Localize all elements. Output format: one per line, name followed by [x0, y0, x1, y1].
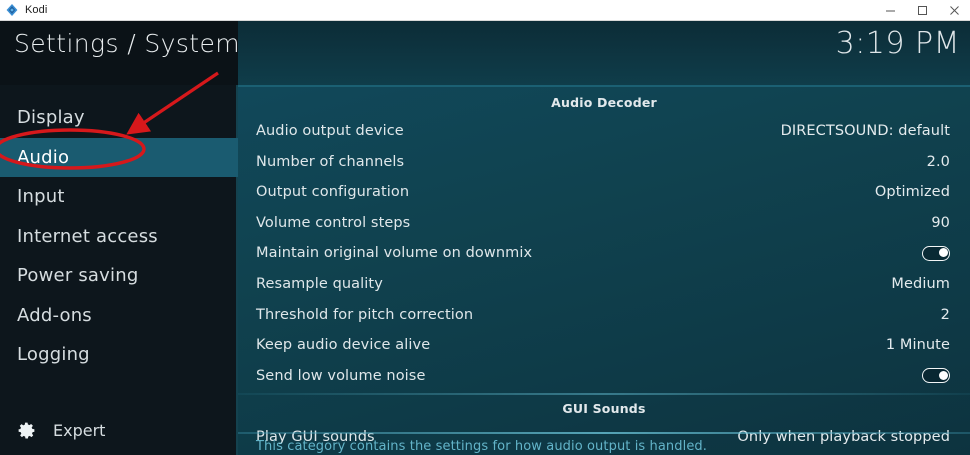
setting-label: Maintain original volume on downmix [256, 245, 532, 261]
clock: 3:19 PM [836, 26, 960, 61]
settings-level-label: Expert [53, 421, 105, 440]
setting-row[interactable]: Threshold for pitch correction2 [238, 302, 970, 328]
setting-label: Send low volume noise [256, 368, 426, 384]
setting-value[interactable]: 1 Minute [886, 337, 950, 353]
setting-row[interactable]: Output configurationOptimized [238, 179, 970, 205]
sidebar-item-label: Display [17, 107, 85, 128]
setting-label: Threshold for pitch correction [256, 307, 473, 323]
setting-value[interactable]: Medium [891, 276, 950, 292]
sidebar-item-display[interactable]: Display [0, 98, 238, 137]
setting-row[interactable]: Keep audio device alive1 Minute [238, 332, 970, 358]
setting-row[interactable]: Maintain original volume on downmix [238, 240, 970, 266]
setting-label: Audio output device [256, 123, 404, 139]
setting-toggle[interactable] [922, 246, 950, 261]
setting-label: Number of channels [256, 154, 404, 170]
section-header: Audio Decoder [238, 91, 970, 113]
sidebar-item-audio[interactable]: Audio [0, 138, 238, 177]
minimize-button[interactable] [874, 0, 906, 21]
kodi-logo-icon [5, 3, 19, 17]
sidebar-item-label: Power saving [17, 265, 138, 286]
sidebar-item-power-saving[interactable]: Power saving [0, 256, 238, 295]
settings-hint-text: This category contains the settings for … [256, 439, 707, 454]
sidebar-item-label: Audio [17, 147, 69, 168]
setting-row[interactable]: Number of channels2.0 [238, 149, 970, 175]
setting-toggle[interactable] [922, 368, 950, 383]
sidebar-item-input[interactable]: Input [0, 177, 238, 216]
app-header: Settings / System 3:19 PM [0, 21, 970, 85]
sidebar-item-add-ons[interactable]: Add-ons [0, 296, 238, 335]
setting-value[interactable]: Optimized [875, 184, 950, 200]
sidebar-item-label: Internet access [17, 226, 158, 247]
sidebar-item-label: Add-ons [17, 305, 92, 326]
sidebar-item-label: Logging [17, 344, 90, 365]
window-title-text: Kodi [25, 4, 47, 16]
kodi-window: Kodi Settings / System 3:19 PM DisplayAu… [0, 0, 970, 455]
setting-value[interactable]: 2 [941, 307, 950, 323]
setting-value[interactable]: DIRECTSOUND: default [781, 123, 950, 139]
close-button[interactable] [938, 0, 970, 21]
maximize-button[interactable] [906, 0, 938, 21]
sidebar-item-internet-access[interactable]: Internet access [0, 217, 238, 256]
setting-row[interactable]: Audio output deviceDIRECTSOUND: default [238, 118, 970, 144]
page-title: Settings / System [14, 29, 240, 58]
toggle-knob [939, 248, 948, 257]
setting-value[interactable]: 2.0 [927, 154, 950, 170]
settings-level-selector[interactable]: Expert [0, 413, 238, 447]
section-header: GUI Sounds [238, 397, 970, 419]
setting-row[interactable]: Resample qualityMedium [238, 271, 970, 297]
kodi-app-area: Settings / System 3:19 PM DisplayAudioIn… [0, 21, 970, 455]
setting-label: Volume control steps [256, 215, 410, 231]
setting-label: Keep audio device alive [256, 337, 430, 353]
setting-label: Resample quality [256, 276, 383, 292]
setting-row[interactable]: Volume control steps90 [238, 210, 970, 236]
toggle-knob [939, 371, 948, 380]
settings-sidebar: DisplayAudioInputInternet accessPower sa… [0, 85, 238, 455]
settings-content-panel: Audio DecoderAudio output deviceDIRECTSO… [238, 85, 970, 455]
setting-label: Output configuration [256, 184, 409, 200]
sidebar-item-label: Input [17, 186, 65, 207]
window-title-bar: Kodi [0, 0, 970, 21]
gear-icon [16, 420, 37, 441]
setting-row[interactable]: Send low volume noise [238, 363, 970, 389]
footer-divider [238, 432, 970, 434]
sidebar-item-logging[interactable]: Logging [0, 335, 238, 374]
setting-value[interactable]: 90 [931, 215, 950, 231]
section-divider [238, 393, 970, 395]
